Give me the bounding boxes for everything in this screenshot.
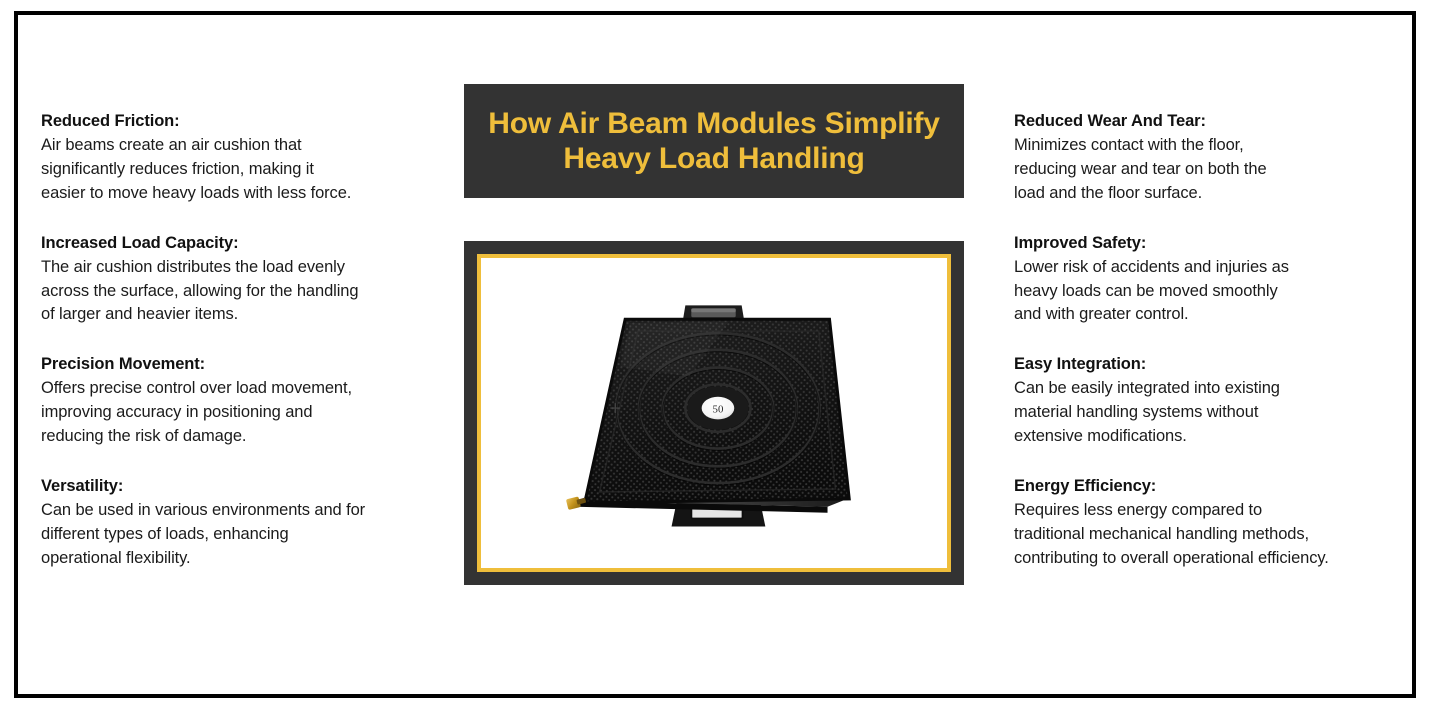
module-plate: 50 [585,319,850,503]
benefit-block-reduced-wear-and-tear: Reduced Wear And Tear: Minimizes contact… [1014,110,1414,206]
benefit-body: The air cushion distributes the load eve… [41,256,433,328]
benefit-body: Can be used in various environments and … [41,499,433,571]
product-image-frame: 50 [464,241,964,585]
benefit-block-improved-safety: Improved Safety: Lower risk of accidents… [1014,232,1414,328]
benefit-block-easy-integration: Easy Integration: Can be easily integrat… [1014,353,1414,449]
benefit-body: Requires less energy compared to traditi… [1014,499,1414,571]
left-benefits-column: Reduced Friction: Air beams create an ai… [41,110,433,571]
benefit-heading: Easy Integration: [1014,353,1414,377]
page-title: How Air Beam Modules Simplify Heavy Load… [474,106,954,177]
benefit-block-energy-efficiency: Energy Efficiency: Requires less energy … [1014,475,1414,571]
benefit-body: Minimizes contact with the floor, reduci… [1014,134,1414,206]
center-label-text: 50 [713,404,724,416]
benefit-heading: Improved Safety: [1014,232,1414,256]
benefit-block-reduced-friction: Reduced Friction: Air beams create an ai… [41,110,433,206]
center-label: 50 [702,397,735,420]
benefit-block-precision-movement: Precision Movement: Offers precise contr… [41,353,433,449]
benefit-block-increased-load-capacity: Increased Load Capacity: The air cushion… [41,232,433,328]
product-image-inner-border: 50 [477,254,951,572]
benefit-heading: Reduced Friction: [41,110,433,134]
infographic-page: Reduced Friction: Air beams create an ai… [0,0,1430,713]
air-beam-module-image: 50 [481,258,947,568]
benefit-body: Air beams create an air cushion that sig… [41,134,433,206]
title-banner: How Air Beam Modules Simplify Heavy Load… [464,84,964,198]
right-benefits-column: Reduced Wear And Tear: Minimizes contact… [1014,110,1414,571]
benefit-heading: Increased Load Capacity: [41,232,433,256]
benefit-body: Offers precise control over load movemen… [41,377,433,449]
benefit-heading: Reduced Wear And Tear: [1014,110,1414,134]
benefit-block-versatility: Versatility: Can be used in various envi… [41,475,433,571]
benefit-heading: Energy Efficiency: [1014,475,1414,499]
benefit-body: Lower risk of accidents and injuries as … [1014,256,1414,328]
benefit-heading: Precision Movement: [41,353,433,377]
benefit-heading: Versatility: [41,475,433,499]
benefit-body: Can be easily integrated into existing m… [1014,377,1414,449]
